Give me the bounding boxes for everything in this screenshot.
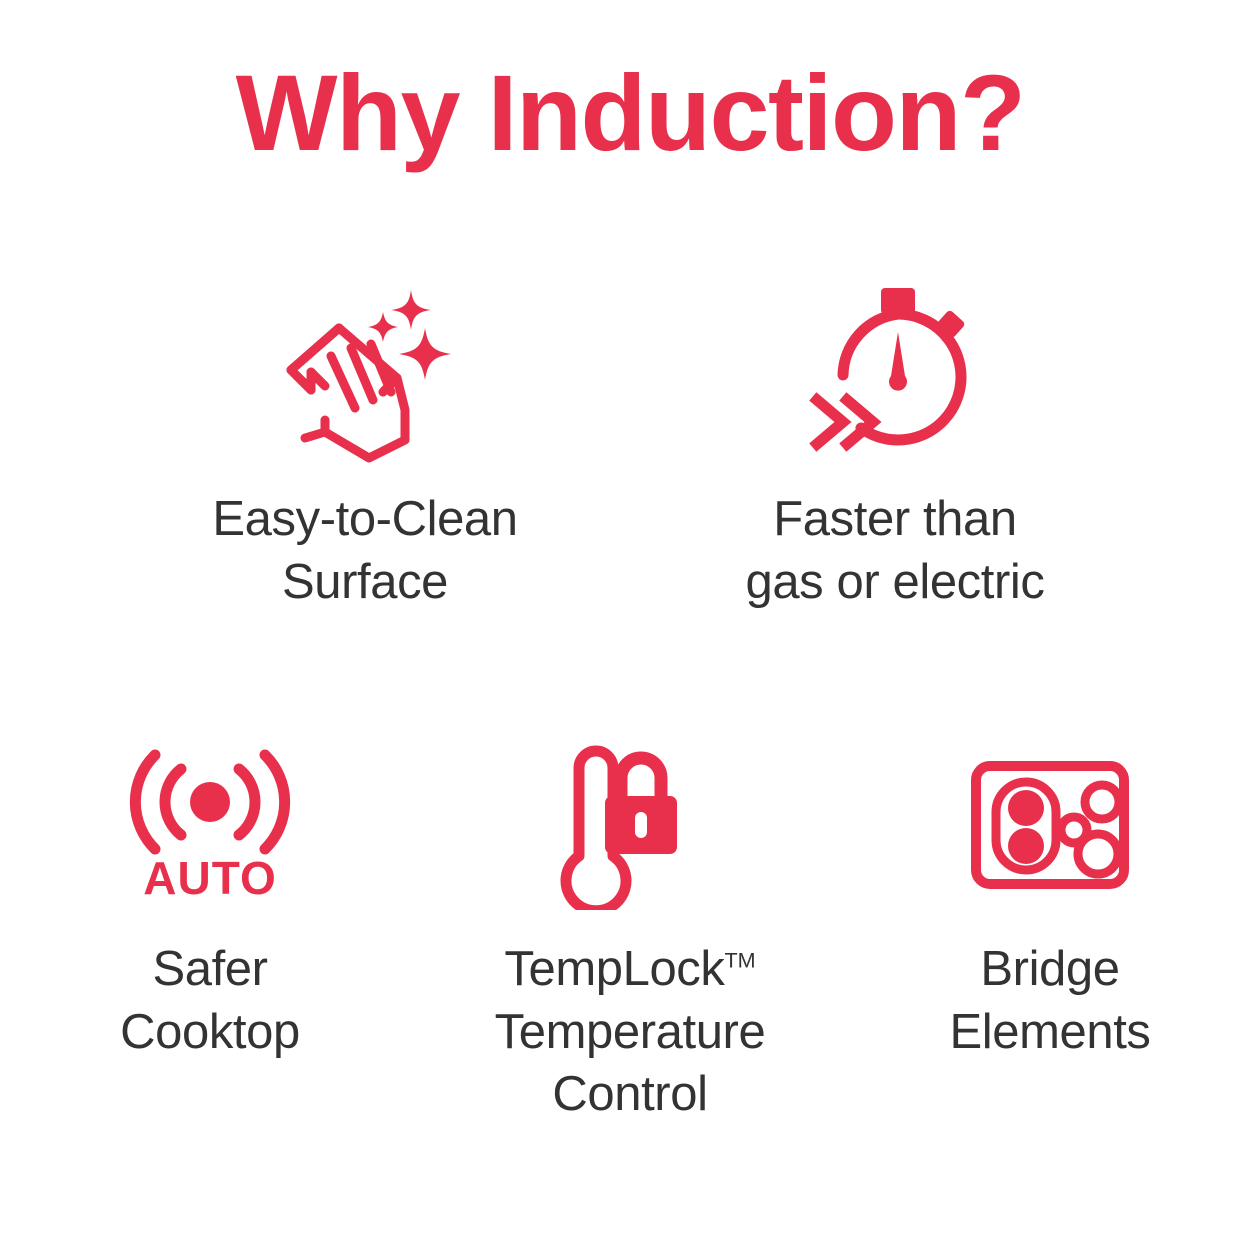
cooktop-bridge-elements-icon xyxy=(970,740,1130,910)
feature-label: Easy-to-Clean Surface xyxy=(212,488,517,613)
label-line-templock: TempLockTM xyxy=(495,938,766,1001)
label-line: Surface xyxy=(212,551,517,614)
feature-label: Faster than gas or electric xyxy=(745,488,1044,613)
feature-row-bottom: AUTO Safer Cooktop xyxy=(0,740,1260,1126)
thermometer-lock-icon xyxy=(555,740,705,910)
feature-row-top: Easy-to-Clean Surface xyxy=(0,270,1260,613)
feature-bridge-elements: Bridge Elements xyxy=(840,740,1260,1063)
trademark-symbol: TM xyxy=(725,948,756,973)
feature-easy-to-clean: Easy-to-Clean Surface xyxy=(100,270,630,613)
feature-safer-cooktop: AUTO Safer Cooktop xyxy=(0,740,420,1063)
page-title: Why Induction? xyxy=(0,56,1260,169)
label-line: Faster than xyxy=(745,488,1044,551)
wipe-cloth-sparkle-icon xyxy=(265,270,465,470)
label-line: Safer xyxy=(120,938,300,1001)
feature-templock-temperature-control: TempLockTM Temperature Control xyxy=(420,740,840,1126)
label-line: Cooktop xyxy=(120,1001,300,1064)
label-line: gas or electric xyxy=(745,551,1044,614)
stopwatch-speed-icon xyxy=(795,270,995,470)
label-line: Control xyxy=(495,1063,766,1126)
auto-sensor-icon: AUTO xyxy=(125,740,295,910)
label-line: Elements xyxy=(949,1001,1150,1064)
feature-label: TempLockTM Temperature Control xyxy=(495,938,766,1126)
label-line: TempLock xyxy=(504,942,724,996)
auto-label: AUTO xyxy=(143,851,277,905)
label-line: Temperature xyxy=(495,1001,766,1064)
feature-label: Bridge Elements xyxy=(949,938,1150,1063)
infographic-page: Why Induction? xyxy=(0,0,1260,1260)
feature-label: Safer Cooktop xyxy=(120,938,300,1063)
label-line: Bridge xyxy=(949,938,1150,1001)
feature-faster-than-gas-or-electric: Faster than gas or electric xyxy=(630,270,1160,613)
label-line: Easy-to-Clean xyxy=(212,488,517,551)
